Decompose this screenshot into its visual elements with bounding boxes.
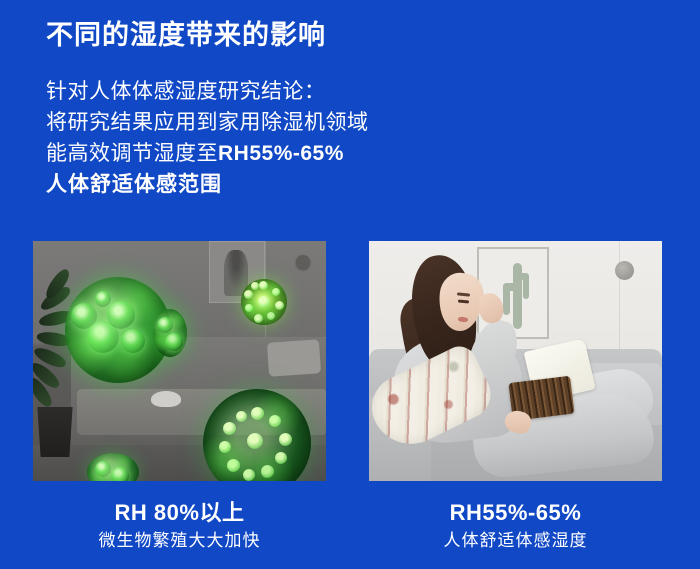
caption-high-humidity: RH 80%以上 微生物繁殖大大加快 <box>33 498 326 554</box>
germ-ring-icon <box>153 309 187 357</box>
photo-comfort-humidity <box>369 241 662 481</box>
germ-small-bottom-icon <box>87 453 139 481</box>
body-line-1: 针对人体体感湿度研究结论： <box>46 76 606 107</box>
body-line-4: 人体舒适体感范围 <box>46 169 606 200</box>
photo-high-humidity <box>33 241 326 481</box>
small-pillow-shape <box>151 391 181 407</box>
caption-title: RH55%-65% <box>369 498 662 528</box>
wall-speaker-icon <box>615 261 634 280</box>
body-line-3: 能高效调节湿度至RH55%-65% <box>46 138 606 169</box>
cactus-icon <box>503 263 529 329</box>
wall-thermostat-icon <box>296 255 310 269</box>
body-line-3-prefix: 能高效调节湿度至 <box>46 142 218 165</box>
caption-title: RH 80%以上 <box>33 498 326 528</box>
bright-living-room-scene <box>369 241 662 481</box>
caption-subtitle: 人体舒适体感湿度 <box>369 528 662 554</box>
body-copy: 针对人体体感湿度研究结论： 将研究结果应用到家用除湿机领域 能高效调节湿度至RH… <box>46 76 606 200</box>
body-line-2: 将研究结果应用到家用除湿机领域 <box>46 107 606 138</box>
humidity-infographic-poster: 不同的湿度带来的影响 针对人体体感湿度研究结论： 将研究结果应用到家用除湿机领域… <box>0 0 700 569</box>
sofa-cushion-shape <box>267 339 321 377</box>
body-line-3-highlight: RH55%-65% <box>218 142 344 165</box>
page-title: 不同的湿度带来的影响 <box>46 17 326 53</box>
germ-spiky-small-icon <box>241 279 287 325</box>
caption-subtitle: 微生物繁殖大大加快 <box>33 528 326 554</box>
plant-pot-shape <box>35 407 75 457</box>
germ-spiky-large-icon <box>203 389 311 481</box>
caption-comfort-humidity: RH55%-65% 人体舒适体感湿度 <box>369 498 662 554</box>
dark-living-room-scene <box>33 241 326 481</box>
